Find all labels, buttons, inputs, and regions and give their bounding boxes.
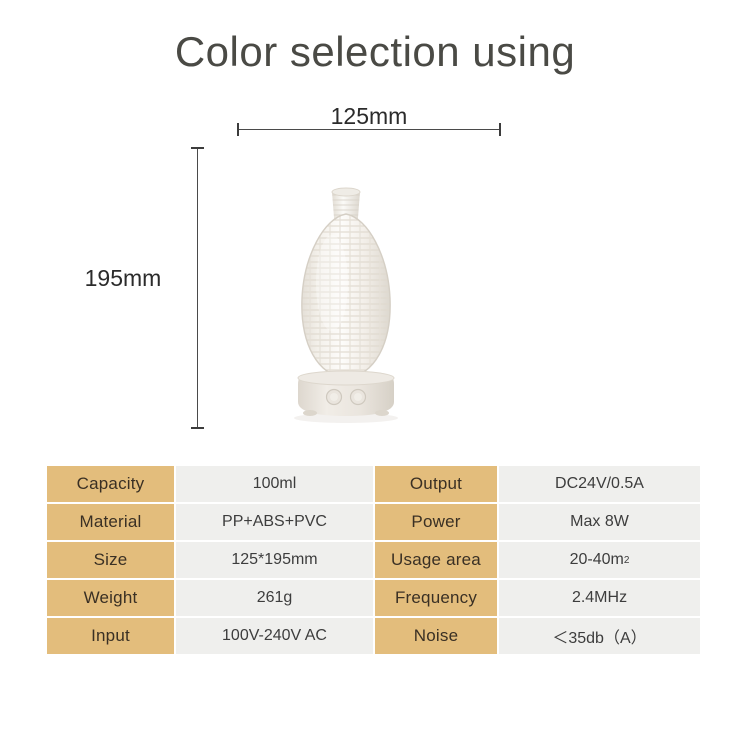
spec-key-size: Size xyxy=(47,542,174,578)
table-row: Material PP+ABS+PVC xyxy=(47,504,373,540)
spec-column-left: Capacity 100ml Material PP+ABS+PVC Size … xyxy=(47,466,373,654)
spec-value-weight: 261g xyxy=(176,580,373,616)
usage-area-superscript: 2 xyxy=(624,555,630,566)
table-row: Usage area 20-40m2 xyxy=(375,542,700,578)
spec-key-capacity: Capacity xyxy=(47,466,174,502)
table-row: Weight 261g xyxy=(47,580,373,616)
spec-column-right: Output DC24V/0.5A Power Max 8W Usage are… xyxy=(375,466,700,654)
spec-value-power: Max 8W xyxy=(499,504,700,540)
spec-key-material: Material xyxy=(47,504,174,540)
product-image xyxy=(258,178,434,430)
specification-table: Capacity 100ml Material PP+ABS+PVC Size … xyxy=(47,466,700,654)
table-row: Capacity 100ml xyxy=(47,466,373,502)
spec-key-output: Output xyxy=(375,466,497,502)
spec-key-power: Power xyxy=(375,504,497,540)
table-row: Noise ＜35db（A） xyxy=(375,618,700,654)
spec-value-noise: ＜35db（A） xyxy=(499,618,700,654)
width-dimension-line xyxy=(238,129,500,130)
width-dimension-tick-right xyxy=(499,123,501,136)
width-dimension-label: 125mm xyxy=(237,103,501,130)
height-dimension-tick-bottom xyxy=(191,427,204,429)
spec-key-weight: Weight xyxy=(47,580,174,616)
spec-key-usage-area: Usage area xyxy=(375,542,497,578)
spec-value-input: 100V-240V AC xyxy=(176,618,373,654)
spec-value-frequency: 2.4MHz xyxy=(499,580,700,616)
height-dimension-tick-top xyxy=(191,147,204,149)
width-dimension-tick-left xyxy=(237,123,239,136)
spec-value-size: 125*195mm xyxy=(176,542,373,578)
spec-value-output: DC24V/0.5A xyxy=(499,466,700,502)
usage-area-text: 20-40m xyxy=(570,551,624,569)
spec-value-usage-area: 20-40m2 xyxy=(499,542,700,578)
height-dimension-line xyxy=(197,148,198,428)
table-row: Frequency 2.4MHz xyxy=(375,580,700,616)
table-row: Power Max 8W xyxy=(375,504,700,540)
table-row: Output DC24V/0.5A xyxy=(375,466,700,502)
spec-value-material: PP+ABS+PVC xyxy=(176,504,373,540)
table-row: Input 100V-240V AC xyxy=(47,618,373,654)
spec-key-noise: Noise xyxy=(375,618,497,654)
spec-value-capacity: 100ml xyxy=(176,466,373,502)
spec-key-frequency: Frequency xyxy=(375,580,497,616)
page-title: Color selection using xyxy=(0,28,750,76)
height-dimension-label: 195mm xyxy=(68,265,178,292)
spec-key-input: Input xyxy=(47,618,174,654)
table-row: Size 125*195mm xyxy=(47,542,373,578)
